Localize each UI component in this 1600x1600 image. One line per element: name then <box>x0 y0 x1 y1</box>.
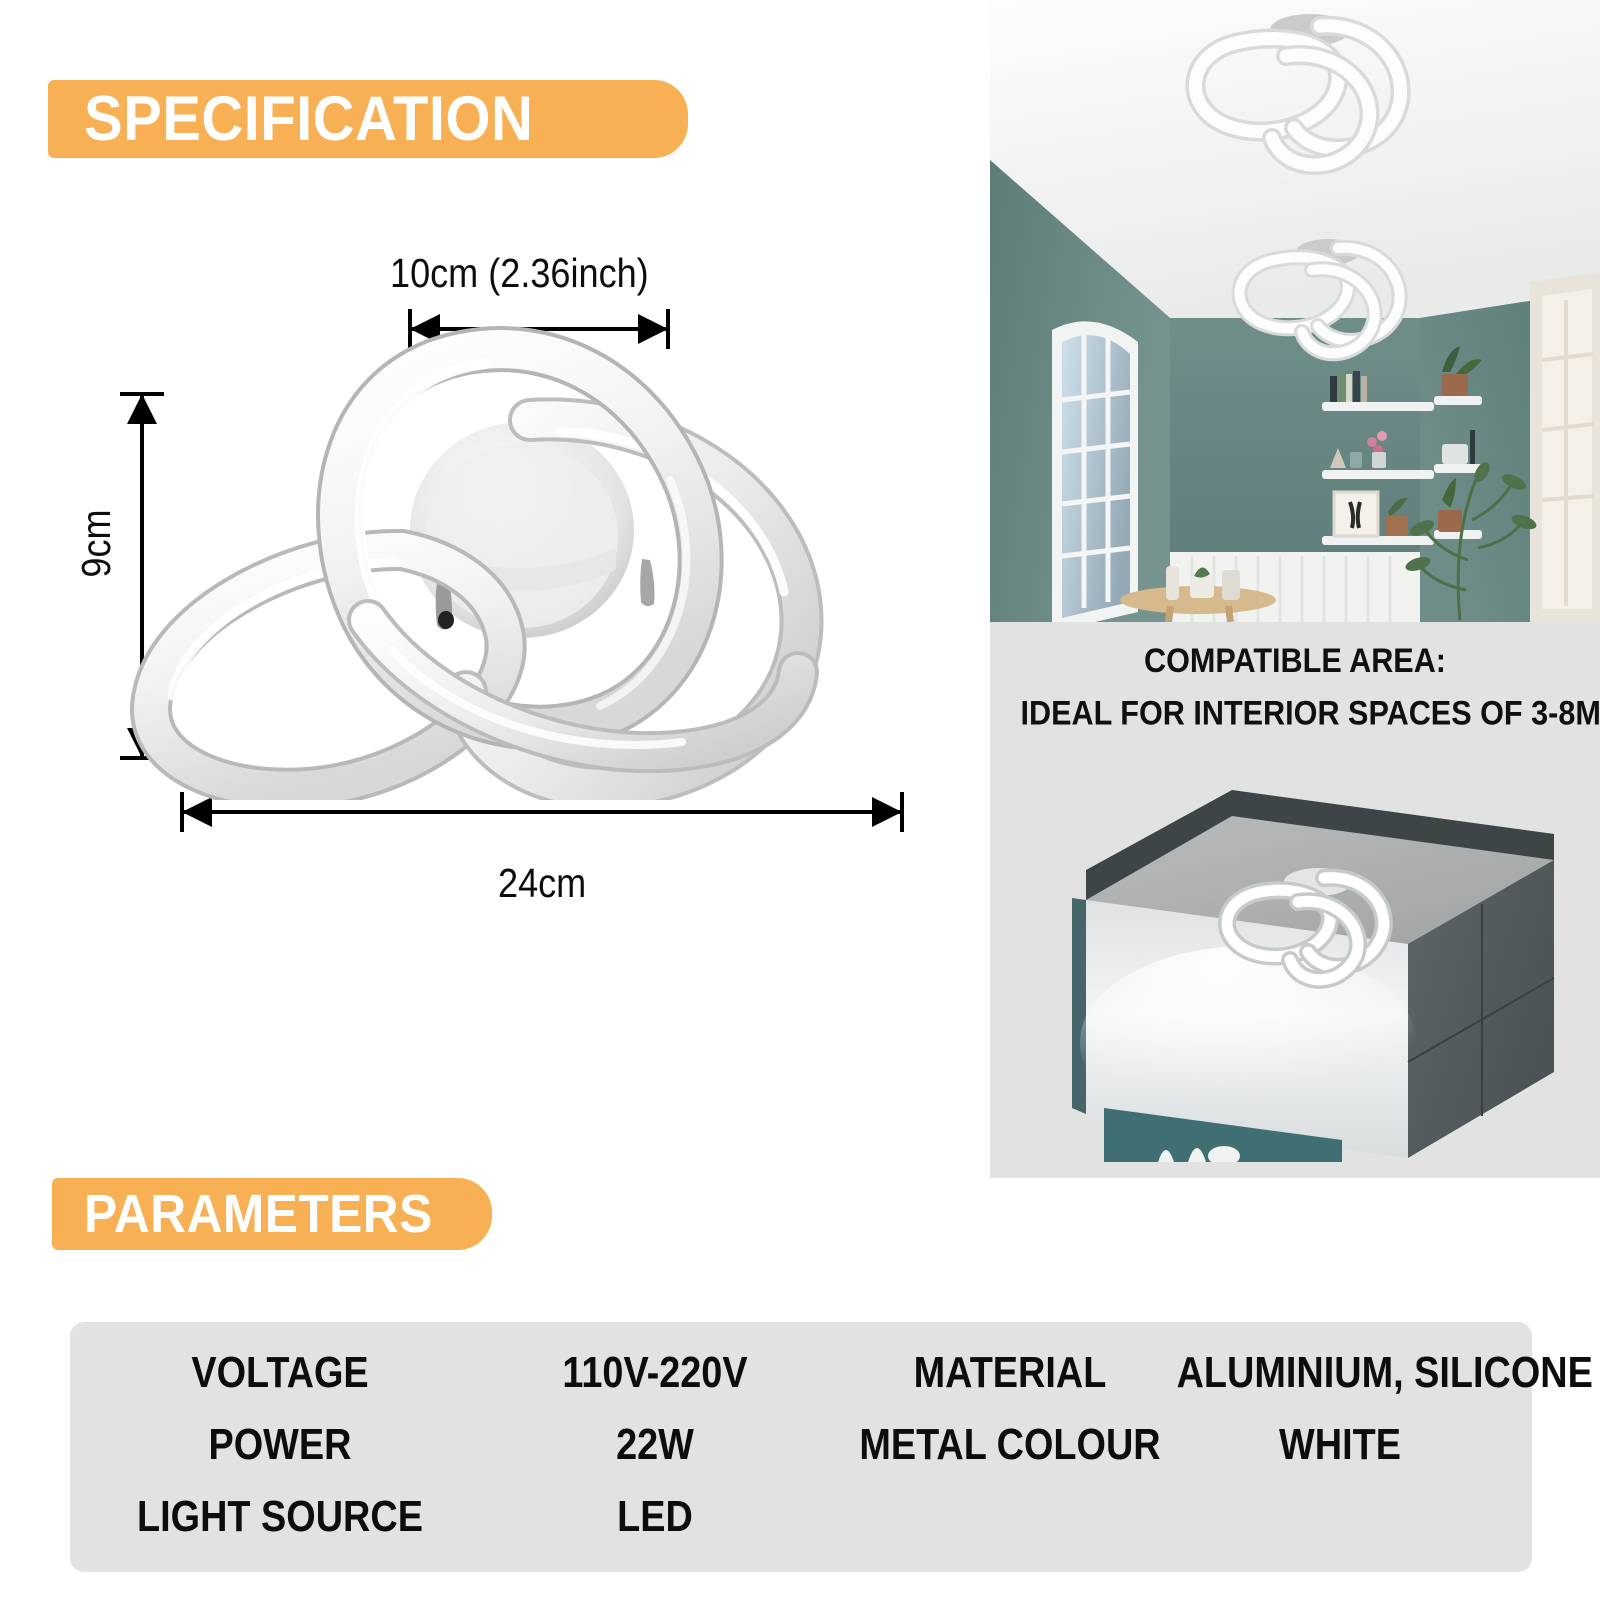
diagram-light-glow <box>1080 946 1416 1138</box>
param-value-voltage: 110V-220V <box>496 1348 814 1398</box>
param-key-voltage: VOLTAGE <box>108 1348 452 1398</box>
param-value-metal-colour: WHITE <box>1177 1420 1504 1470</box>
compatible-area-panel: COMPATIBLE AREA: IDEAL FOR INTERIOR SPAC… <box>990 622 1600 1178</box>
compatible-area-detail: IDEAL FOR INTERIOR SPACES OF 3-8M2 <box>1021 694 1570 733</box>
arrowhead-right <box>872 797 902 827</box>
arrow-shaft <box>180 810 904 814</box>
panel-door <box>1530 272 1600 622</box>
parameters-title: PARAMETERS <box>84 1187 433 1241</box>
dimension-label-height-left: 9cm <box>73 509 120 577</box>
param-key-power: POWER <box>108 1420 452 1470</box>
shelf-frame <box>1334 492 1378 536</box>
compatible-area-heading: COMPATIBLE AREA: <box>1021 642 1570 681</box>
room-scene-photo <box>990 0 1600 622</box>
param-value-light-source: LED <box>496 1492 814 1542</box>
room-size-diagram <box>1012 772 1578 1162</box>
specification-banner: SPECIFICATION <box>48 80 688 158</box>
dimension-label-width-top: 10cm (2.36inch) <box>390 250 649 297</box>
param-key-light-source: LIGHT SOURCE <box>108 1492 452 1542</box>
param-value-material: ALUMINIUM, SILICONE <box>1177 1348 1504 1398</box>
arched-window <box>1052 321 1138 622</box>
product-image-ceiling-light <box>130 320 860 800</box>
dimension-label-width-bottom: 24cm <box>498 860 586 907</box>
arrowhead-left <box>182 797 212 827</box>
param-key-metal-colour: METAL COLOUR <box>855 1420 1165 1470</box>
table-decor <box>1166 566 1240 600</box>
specification-title: SPECIFICATION <box>84 88 533 151</box>
parameters-banner: PARAMETERS <box>52 1178 492 1250</box>
param-key-material: MATERIAL <box>855 1348 1165 1398</box>
compatible-area-detail-text: IDEAL FOR INTERIOR SPACES OF 3-8M <box>1021 694 1600 732</box>
parameters-table: VOLTAGE 110V-220V MATERIAL ALUMINIUM, SI… <box>70 1322 1532 1572</box>
tick-right <box>900 792 904 832</box>
diagram-left-edge <box>1072 898 1086 1114</box>
param-value-power: 22W <box>496 1420 814 1470</box>
